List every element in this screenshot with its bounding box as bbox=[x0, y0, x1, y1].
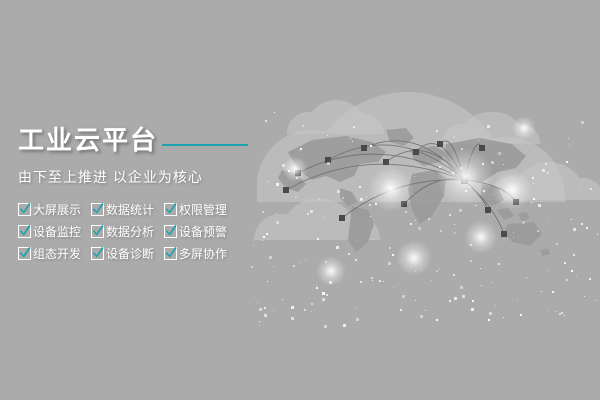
particle bbox=[373, 239, 374, 240]
particle bbox=[353, 126, 355, 128]
particle bbox=[571, 219, 572, 220]
particle bbox=[453, 136, 455, 138]
feature-checklist: 大屏展示数据统计权限管理设备监控数据分析设备预警组态开发设备诊断多屏协作 bbox=[18, 201, 248, 262]
particle bbox=[586, 227, 588, 229]
particle bbox=[532, 177, 534, 179]
particle bbox=[571, 270, 573, 272]
particle bbox=[498, 263, 500, 265]
particle bbox=[366, 196, 367, 197]
particle bbox=[316, 285, 317, 286]
particle bbox=[392, 254, 394, 256]
particle bbox=[566, 279, 568, 281]
particle bbox=[259, 321, 260, 322]
particle bbox=[342, 197, 344, 199]
particle bbox=[410, 223, 412, 225]
particle bbox=[436, 270, 438, 272]
particle bbox=[431, 280, 432, 281]
particle bbox=[542, 169, 545, 172]
particle bbox=[266, 233, 268, 235]
particle bbox=[569, 145, 570, 146]
particle bbox=[597, 234, 598, 235]
particle bbox=[548, 270, 549, 271]
particle bbox=[405, 211, 407, 213]
particle bbox=[324, 217, 325, 218]
particle bbox=[491, 161, 494, 164]
particle bbox=[267, 181, 268, 182]
title-row: 工业云平台 bbox=[18, 120, 248, 157]
particle bbox=[293, 265, 295, 267]
feature-item[interactable]: 设备诊断 bbox=[91, 245, 154, 262]
particle bbox=[300, 148, 302, 150]
particle bbox=[439, 166, 441, 168]
particle bbox=[262, 240, 263, 241]
particle bbox=[310, 210, 313, 213]
particle bbox=[420, 315, 423, 318]
particle bbox=[452, 172, 454, 174]
particle bbox=[265, 120, 267, 122]
particle bbox=[425, 310, 426, 311]
particle bbox=[498, 152, 501, 155]
particle bbox=[337, 190, 340, 193]
particle bbox=[276, 213, 277, 214]
particle bbox=[436, 319, 438, 321]
particle bbox=[400, 309, 402, 311]
title-accent-rule bbox=[162, 144, 248, 146]
particle bbox=[392, 171, 393, 172]
particle bbox=[547, 172, 549, 174]
particle bbox=[440, 230, 442, 232]
particle bbox=[561, 312, 563, 314]
particle bbox=[503, 317, 504, 318]
particle bbox=[305, 260, 306, 261]
checkbox-checked-icon[interactable] bbox=[18, 203, 31, 216]
particle bbox=[488, 319, 490, 321]
particle bbox=[478, 140, 479, 141]
particle bbox=[324, 325, 327, 328]
particle bbox=[254, 297, 255, 298]
particle bbox=[453, 274, 455, 276]
particle bbox=[576, 276, 577, 277]
particle bbox=[393, 287, 394, 288]
particle bbox=[454, 297, 457, 300]
particle bbox=[322, 292, 325, 295]
particle bbox=[326, 294, 328, 296]
particle bbox=[372, 280, 373, 281]
particle bbox=[319, 199, 320, 200]
particle bbox=[350, 138, 351, 139]
particle bbox=[547, 221, 548, 222]
checkbox-checked-icon[interactable] bbox=[164, 247, 177, 260]
particle bbox=[269, 256, 272, 259]
particle bbox=[465, 190, 467, 192]
particle bbox=[470, 260, 472, 262]
particle bbox=[375, 203, 377, 205]
particle bbox=[299, 150, 300, 151]
particle bbox=[253, 245, 254, 246]
particle bbox=[482, 163, 484, 165]
feature-item[interactable]: 设备监控 bbox=[18, 223, 81, 240]
particle bbox=[459, 209, 462, 212]
particle bbox=[460, 286, 463, 289]
particle bbox=[513, 237, 514, 238]
feature-item[interactable]: 大屏展示 bbox=[18, 201, 81, 218]
particle bbox=[460, 167, 463, 170]
feature-label: 大屏展示 bbox=[33, 201, 81, 218]
particle bbox=[454, 232, 456, 234]
particle bbox=[282, 299, 283, 300]
particle bbox=[589, 278, 591, 280]
particle bbox=[402, 295, 405, 298]
particle bbox=[595, 300, 596, 301]
particle bbox=[552, 291, 554, 293]
feature-item[interactable]: 数据分析 bbox=[91, 223, 154, 240]
feature-item[interactable]: 设备预警 bbox=[164, 223, 227, 240]
particle bbox=[513, 232, 514, 233]
particle bbox=[580, 190, 581, 191]
particle bbox=[316, 287, 318, 289]
particle bbox=[369, 204, 371, 206]
feature-label: 设备预警 bbox=[179, 223, 227, 240]
particle bbox=[470, 156, 471, 157]
particle bbox=[325, 261, 327, 263]
particle bbox=[413, 194, 414, 195]
particle bbox=[556, 243, 558, 245]
particle bbox=[481, 285, 482, 286]
checkbox-checked-icon[interactable] bbox=[164, 203, 177, 216]
particle bbox=[302, 125, 304, 127]
particle bbox=[533, 198, 535, 200]
particle bbox=[267, 281, 268, 282]
particle bbox=[304, 309, 306, 311]
particle bbox=[329, 281, 332, 284]
particle bbox=[291, 306, 294, 309]
particle bbox=[360, 198, 363, 201]
particle bbox=[355, 259, 357, 261]
particle bbox=[526, 277, 527, 278]
particle bbox=[276, 221, 279, 224]
particle bbox=[489, 312, 492, 315]
particle bbox=[307, 213, 309, 215]
particle bbox=[439, 268, 440, 269]
particle bbox=[541, 291, 542, 292]
page-title: 工业云平台 bbox=[18, 120, 158, 157]
particle bbox=[415, 300, 416, 301]
particle bbox=[449, 300, 451, 302]
feature-item[interactable]: 数据统计 bbox=[91, 201, 154, 218]
particle bbox=[348, 253, 350, 255]
particle bbox=[264, 314, 267, 317]
particle bbox=[311, 311, 312, 312]
particle bbox=[264, 307, 266, 309]
checkbox-checked-icon[interactable] bbox=[18, 247, 31, 260]
particle bbox=[343, 324, 346, 327]
particle bbox=[533, 183, 534, 184]
particle bbox=[584, 296, 585, 297]
feature-item[interactable]: 权限管理 bbox=[164, 201, 227, 218]
particle bbox=[568, 138, 569, 139]
particle bbox=[383, 281, 384, 282]
particle bbox=[295, 196, 297, 198]
cloud-network-illustration bbox=[250, 70, 600, 330]
particle bbox=[336, 246, 339, 249]
particle bbox=[564, 262, 566, 264]
particle bbox=[493, 194, 494, 195]
particle bbox=[564, 315, 565, 316]
page-subtitle: 由下至上推进 以企业为核心 bbox=[18, 167, 248, 187]
particle bbox=[462, 295, 465, 298]
particle bbox=[537, 230, 539, 232]
particle bbox=[311, 303, 313, 305]
particle bbox=[548, 311, 549, 312]
particle bbox=[259, 308, 262, 311]
particle bbox=[471, 308, 474, 311]
particle bbox=[470, 244, 472, 246]
particle bbox=[492, 282, 493, 283]
particle bbox=[296, 177, 298, 179]
particle bbox=[352, 141, 353, 142]
particle bbox=[415, 271, 416, 272]
particle bbox=[555, 311, 556, 312]
world-map-network bbox=[268, 118, 568, 268]
particle bbox=[559, 313, 561, 315]
particle bbox=[545, 163, 547, 165]
checkbox-checked-icon[interactable] bbox=[91, 225, 104, 238]
particle bbox=[251, 266, 253, 268]
checkbox-checked-icon[interactable] bbox=[18, 225, 31, 238]
particle bbox=[257, 302, 258, 303]
particle bbox=[573, 254, 575, 256]
feature-label: 权限管理 bbox=[179, 201, 227, 218]
particle bbox=[590, 188, 592, 190]
particle bbox=[573, 228, 576, 231]
particle bbox=[581, 223, 583, 225]
particle bbox=[327, 162, 330, 165]
particle bbox=[414, 176, 415, 177]
industrial-cloud-banner: 工业云平台 由下至上推进 以企业为核心 大屏展示数据统计权限管理设备监控数据分析… bbox=[0, 0, 600, 400]
particle bbox=[436, 130, 438, 132]
particle bbox=[476, 205, 477, 206]
particle bbox=[356, 318, 359, 321]
particle bbox=[449, 214, 451, 216]
particle bbox=[389, 186, 391, 188]
particle bbox=[389, 247, 391, 249]
particle bbox=[517, 300, 518, 301]
particle bbox=[469, 186, 471, 188]
particle bbox=[259, 325, 260, 326]
particle bbox=[273, 266, 274, 267]
particle bbox=[356, 240, 357, 241]
feature-item[interactable]: 多屏协作 bbox=[164, 245, 227, 262]
checkbox-checked-icon[interactable] bbox=[164, 225, 177, 238]
checkbox-checked-icon[interactable] bbox=[91, 247, 104, 260]
particle bbox=[288, 170, 290, 172]
particle bbox=[495, 305, 496, 306]
particle bbox=[388, 262, 391, 265]
world-map-landmasses bbox=[278, 128, 550, 256]
particle bbox=[581, 121, 584, 124]
feature-label: 设备诊断 bbox=[106, 245, 154, 262]
particle bbox=[421, 269, 422, 270]
particle bbox=[566, 161, 568, 163]
particle bbox=[263, 236, 265, 238]
particle bbox=[531, 202, 532, 203]
feature-label: 数据分析 bbox=[106, 223, 154, 240]
particle bbox=[322, 298, 325, 301]
particle bbox=[415, 220, 416, 221]
particle bbox=[418, 227, 421, 230]
particle bbox=[356, 307, 357, 308]
particle bbox=[522, 221, 525, 224]
feature-label: 组态开发 bbox=[33, 245, 81, 262]
particle bbox=[483, 190, 485, 192]
particle bbox=[273, 310, 274, 311]
particle bbox=[379, 280, 381, 282]
banner-text-block: 工业云平台 由下至上推进 以企业为核心 大屏展示数据统计权限管理设备监控数据分析… bbox=[18, 120, 248, 262]
particle bbox=[428, 218, 430, 220]
particle bbox=[480, 268, 481, 269]
particle bbox=[317, 238, 319, 240]
particle bbox=[359, 186, 361, 188]
particle bbox=[291, 317, 294, 320]
particle bbox=[520, 314, 522, 316]
particle bbox=[299, 263, 300, 264]
feature-label: 设备监控 bbox=[33, 223, 81, 240]
feature-item[interactable]: 组态开发 bbox=[18, 245, 81, 262]
particle bbox=[503, 164, 504, 165]
checkbox-checked-icon[interactable] bbox=[91, 203, 104, 216]
particle bbox=[276, 183, 279, 186]
feature-label: 多屏协作 bbox=[179, 245, 227, 262]
particle bbox=[487, 125, 490, 128]
particle bbox=[282, 164, 285, 167]
particle bbox=[538, 204, 541, 207]
particle bbox=[360, 281, 362, 283]
particle bbox=[454, 224, 455, 225]
particle bbox=[274, 112, 275, 113]
particle bbox=[262, 211, 264, 213]
feature-label: 数据统计 bbox=[106, 201, 154, 218]
particle bbox=[461, 148, 463, 150]
particle bbox=[370, 145, 372, 147]
particle bbox=[370, 216, 371, 217]
particle bbox=[327, 135, 328, 136]
particle bbox=[472, 300, 474, 302]
